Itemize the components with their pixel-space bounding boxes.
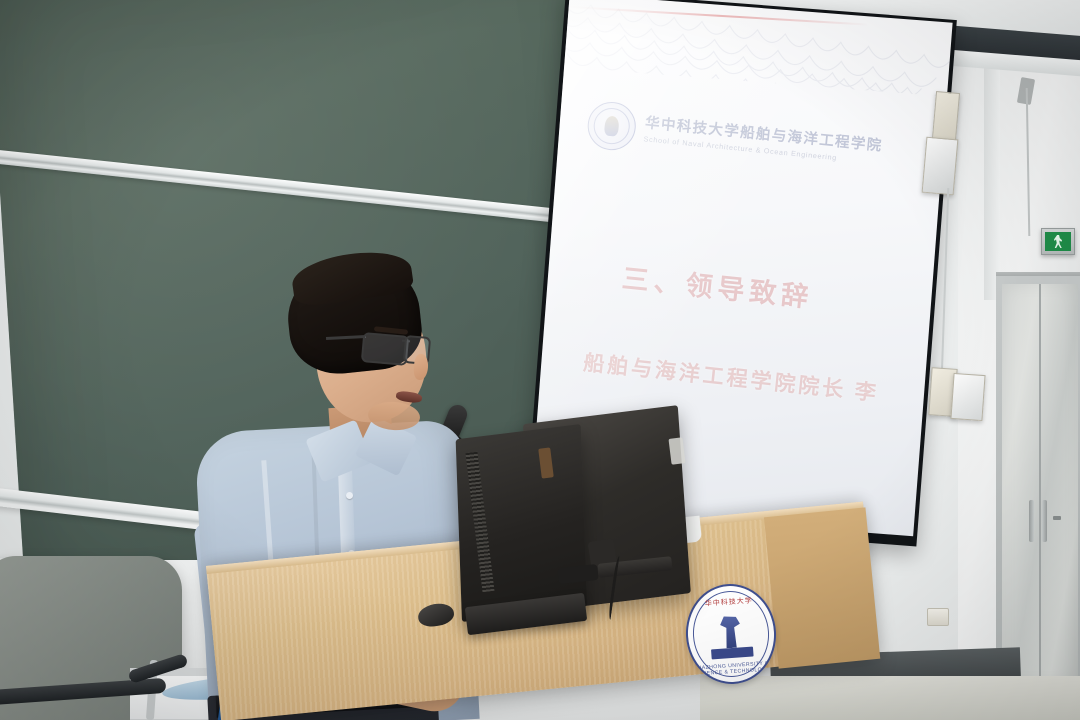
shirt-button (346, 492, 353, 499)
lecture-hall-photo: 华中科技大学船舶与海洋工程学院 School of Naval Architec… (0, 0, 1080, 720)
nose (413, 354, 429, 381)
door-handle-right[interactable] (1042, 500, 1047, 542)
eyeglasses-lens-left (361, 332, 409, 366)
emergency-exit-sign (1041, 228, 1075, 255)
monitor-spec-label (668, 437, 685, 465)
exit-sign-face (1045, 232, 1071, 251)
wall-speaker-box (922, 137, 959, 196)
power-outlet[interactable] (927, 608, 949, 626)
wall-control-box (932, 91, 960, 141)
podium-side-panel (764, 507, 880, 668)
door-handle-left[interactable] (1029, 500, 1034, 542)
door-center-seam (1039, 284, 1041, 684)
running-man-icon (1054, 235, 1063, 248)
floor (700, 676, 1080, 720)
door-lock[interactable] (1053, 516, 1061, 520)
wall-panel-box (950, 373, 985, 421)
